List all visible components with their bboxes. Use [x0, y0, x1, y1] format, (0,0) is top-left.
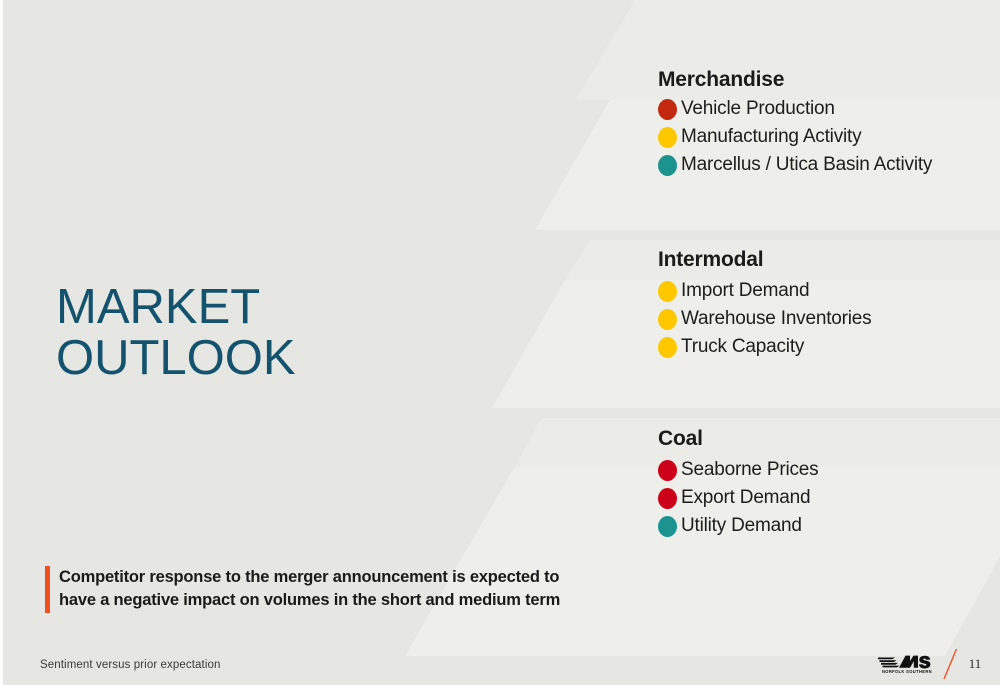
section-coal: Coal Seaborne Prices Export Demand Utili…: [658, 427, 818, 537]
status-dot-teal: [658, 155, 677, 176]
list-item-label: Vehicle Production: [681, 98, 835, 120]
page-number: 11: [964, 656, 986, 672]
status-dot-red: [658, 99, 677, 120]
list-item-label: Truck Capacity: [681, 336, 804, 358]
status-dot-yellow: [658, 127, 677, 148]
callout-text: Competitor response to the merger announ…: [59, 566, 560, 613]
status-dot-teal: [658, 516, 677, 537]
list-item: Utility Demand: [658, 515, 818, 537]
list-item: Import Demand: [658, 280, 871, 302]
status-dot-red: [658, 460, 677, 481]
callout: Competitor response to the merger announ…: [45, 566, 560, 613]
bullet-list-merchandise: Vehicle Production Manufacturing Activit…: [658, 98, 932, 176]
bullet-list-coal: Seaborne Prices Export Demand Utility De…: [658, 459, 818, 537]
list-item-label: Manufacturing Activity: [681, 126, 861, 148]
list-item: Marcellus / Utica Basin Activity: [658, 154, 932, 176]
footnote: Sentiment versus prior expectation: [40, 659, 220, 671]
panel-coal-back: [0, 418, 1000, 468]
status-dot-yellow: [658, 281, 677, 302]
footer-right: NORFOLK SOUTHERN 11: [878, 650, 986, 678]
panel-coal-front: [0, 468, 1000, 556]
section-title-coal: Coal: [658, 427, 818, 451]
status-dot-yellow: [658, 337, 677, 358]
status-dot-yellow: [658, 309, 677, 330]
section-merchandise: Merchandise Vehicle Production Manufactu…: [658, 68, 932, 176]
status-dot-red: [658, 488, 677, 509]
section-title-merchandise: Merchandise: [658, 68, 932, 92]
list-item: Vehicle Production: [658, 98, 932, 120]
list-item-label: Import Demand: [681, 280, 809, 302]
page-title: MARKET OUTLOOK: [56, 282, 296, 384]
list-item: Truck Capacity: [658, 336, 871, 358]
list-item: Warehouse Inventories: [658, 308, 871, 330]
list-item-label: Export Demand: [681, 487, 810, 509]
logo-wordmark-text: NORFOLK SOUTHERN: [882, 669, 932, 674]
slide-canvas: MARKET OUTLOOK Merchandise Vehicle Produ…: [0, 0, 1000, 685]
bullet-list-intermodal: Import Demand Warehouse Inventories Truc…: [658, 280, 871, 358]
list-item: Seaborne Prices: [658, 459, 818, 481]
list-item-label: Marcellus / Utica Basin Activity: [681, 154, 932, 176]
list-item-label: Seaborne Prices: [681, 459, 818, 481]
list-item-label: Warehouse Inventories: [681, 308, 871, 330]
list-item: Export Demand: [658, 487, 818, 509]
list-item: Manufacturing Activity: [658, 126, 932, 148]
left-edge-strip: [0, 0, 3, 685]
section-intermodal: Intermodal Import Demand Warehouse Inven…: [658, 248, 871, 358]
footer-slash-divider: [940, 649, 962, 679]
norfolk-southern-logo-icon: NORFOLK SOUTHERN: [878, 653, 934, 675]
list-item-label: Utility Demand: [681, 515, 802, 537]
callout-accent-bar: [45, 566, 50, 613]
section-title-intermodal: Intermodal: [658, 248, 871, 272]
